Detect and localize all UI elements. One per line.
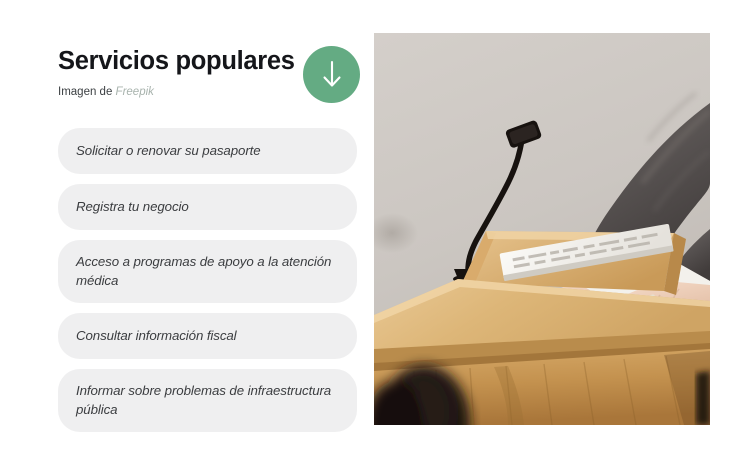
- service-label: Informar sobre problemas de infraestruct…: [76, 381, 339, 419]
- list-item[interactable]: Informar sobre problemas de infraestruct…: [58, 369, 357, 432]
- podium-photo: [374, 33, 710, 425]
- service-label: Solicitar o renovar su pasaporte: [76, 141, 261, 160]
- left-column: Servicios populares Imagen de Freepik: [58, 44, 358, 104]
- arrow-down-icon: [319, 59, 345, 91]
- list-item[interactable]: Solicitar o renovar su pasaporte: [58, 128, 357, 174]
- service-label: Consultar información fiscal: [76, 326, 237, 345]
- attribution-prefix: Imagen de: [58, 86, 116, 98]
- services-list: Solicitar o renovar su pasaporte Registr…: [58, 128, 357, 432]
- service-label: Acceso a programas de apoyo a la atenció…: [76, 252, 339, 290]
- image-attribution: Imagen de Freepik: [58, 85, 154, 100]
- list-item[interactable]: Consultar información fiscal: [58, 313, 357, 359]
- heading-row: Servicios populares Imagen de Freepik: [58, 44, 358, 104]
- scroll-down-button[interactable]: [303, 46, 360, 103]
- popular-services-card: Servicios populares Imagen de Freepik So…: [0, 0, 750, 460]
- list-item[interactable]: Registra tu negocio: [58, 184, 357, 230]
- service-label: Registra tu negocio: [76, 197, 189, 216]
- list-item[interactable]: Acceso a programas de apoyo a la atenció…: [58, 240, 357, 303]
- freepik-link[interactable]: Freepik: [116, 86, 154, 98]
- page-title: Servicios populares: [58, 46, 295, 76]
